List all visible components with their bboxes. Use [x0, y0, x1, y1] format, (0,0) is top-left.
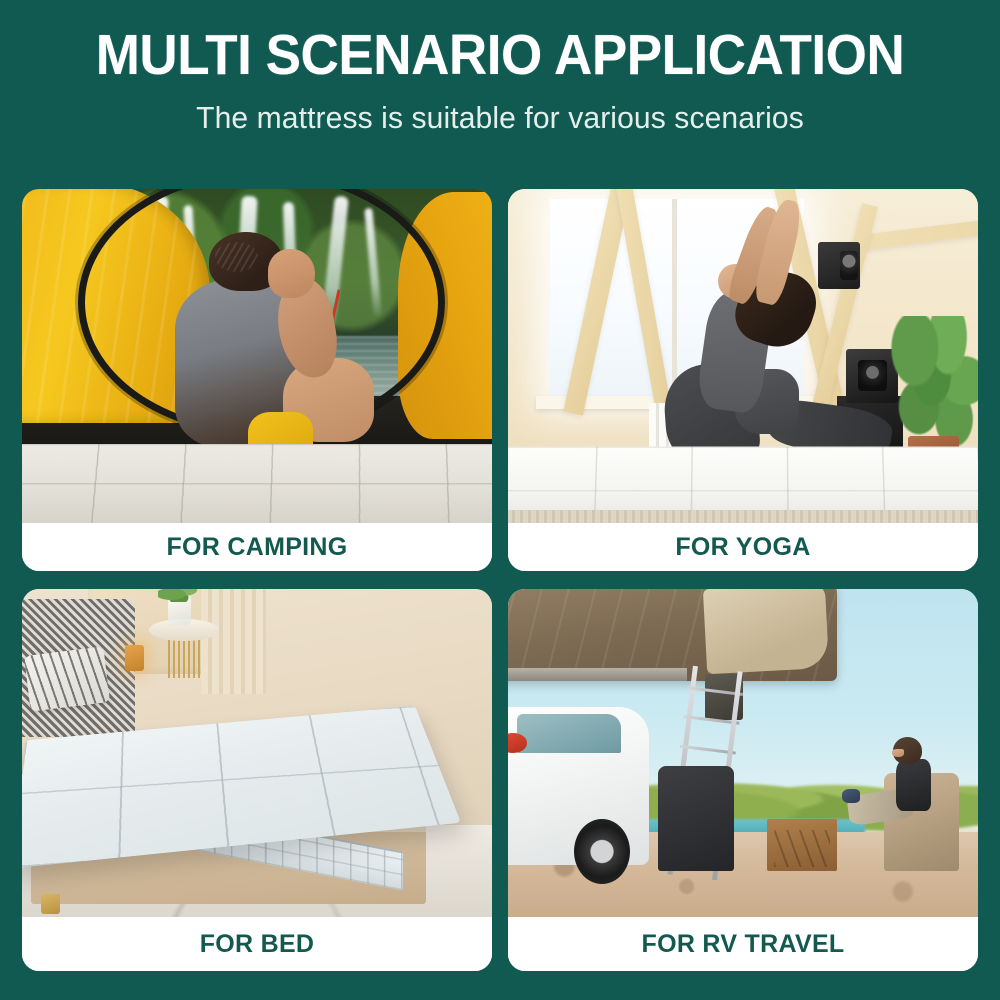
camper-face [268, 249, 316, 298]
car-window [517, 714, 620, 753]
bed-foot [41, 894, 60, 914]
curtain [201, 589, 267, 694]
tent-rainfly [703, 589, 829, 674]
camper-person [149, 229, 365, 476]
camping-table [767, 819, 838, 871]
camping-mattress [22, 444, 492, 523]
vase-leaves [158, 589, 200, 602]
camping-chair-left [658, 766, 733, 871]
tent-right-panel [398, 192, 492, 439]
card-label-camping: FOR CAMPING [22, 523, 492, 571]
rv-travel-photo [508, 589, 978, 917]
man-torso [896, 759, 931, 811]
page-subtitle: The mattress is suitable for various sce… [15, 100, 985, 136]
throw-pillow [24, 647, 110, 712]
scenario-card-yoga[interactable]: FOR YOGA [508, 189, 978, 571]
car-wheel [574, 819, 630, 885]
seated-man [842, 737, 945, 875]
man-head [893, 737, 922, 765]
bed-photo [22, 589, 492, 917]
side-table-leg [168, 638, 201, 677]
yoga-photo [508, 189, 978, 523]
card-label-yoga: FOR YOGA [508, 523, 978, 571]
man-shoe [842, 789, 861, 803]
page-title: MULTI SCENARIO APPLICATION [35, 26, 965, 86]
scenario-card-grid: FOR CAMPING [22, 189, 978, 971]
card-label-bed: FOR BED [22, 917, 492, 971]
header: MULTI SCENARIO APPLICATION The mattress … [0, 0, 1000, 136]
roof-rack [508, 668, 687, 681]
card-label-rv-travel: FOR RV TRAVEL [508, 917, 978, 971]
scenario-card-camping[interactable]: FOR CAMPING [22, 189, 492, 571]
yoga-floor-edge [508, 510, 978, 523]
scenario-card-bed[interactable]: FOR BED [22, 589, 492, 971]
scenario-card-rv-travel[interactable]: FOR RV TRAVEL [508, 589, 978, 971]
camping-photo [22, 189, 492, 523]
table-lamp-icon [125, 645, 144, 671]
